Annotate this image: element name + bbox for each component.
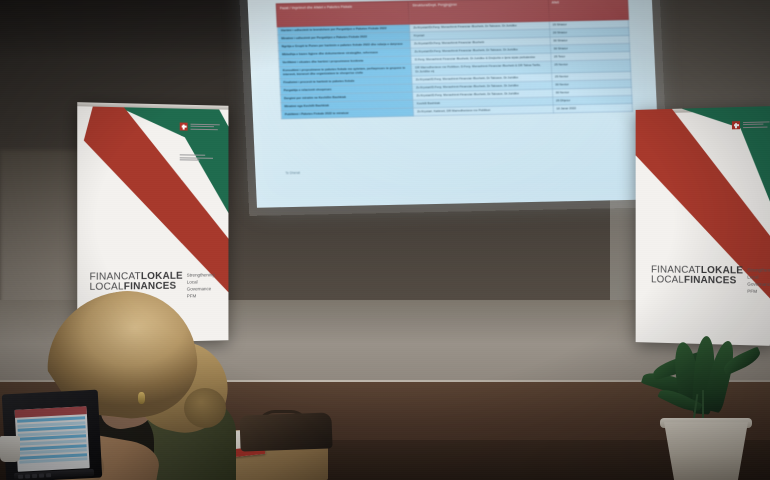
swiss-logo-lines <box>191 123 220 130</box>
banner-right-subtitle: Strengthening Local Governance PFM <box>747 266 770 295</box>
r-subtitle-line-4: PFM <box>747 288 770 295</box>
plant-pot <box>664 422 748 480</box>
swiss-caption-lines <box>180 154 213 161</box>
banner-right-finances: FINANCES <box>684 275 736 287</box>
subtitle-line-3: Governance <box>187 286 215 293</box>
cell-deadline: 10 Janar 2022 <box>553 104 633 114</box>
banner-right-local: LOCAL <box>651 275 684 286</box>
swiss-confederation-logo <box>180 123 220 132</box>
banner-left-title: FINANCATLOKALE LOCALFINANCES <box>90 272 183 294</box>
fiscal-package-table: Fazat / Veprimet dhe Afatet e Paketes Fi… <box>276 0 633 120</box>
cup <box>0 436 20 462</box>
column-header-deadline: Afati <box>548 0 629 21</box>
conference-room-scene: Paketa Fiskale Fazat / Veprimet dhe Afat… <box>0 0 770 480</box>
potted-plant <box>636 336 768 480</box>
swiss-cross-icon <box>180 123 188 131</box>
r-subtitle-line-3: Governance <box>747 281 770 288</box>
woman-hair-bun <box>184 388 226 428</box>
slide-content: Paketa Fiskale Fazat / Veprimet dhe Afat… <box>262 0 650 171</box>
cell-task: Publikimi i Paketes Fiskale 2022 te mira… <box>281 108 414 119</box>
swiss-confederation-logo-right <box>732 120 770 129</box>
swiss-logo-lines-right <box>743 120 769 127</box>
handbag <box>239 412 332 451</box>
banner-left-local: LOCAL <box>90 282 124 294</box>
woman-earring <box>138 392 145 404</box>
rollup-banner-right: FINANCATLOKALE LOCALFINANCES Strengtheni… <box>636 106 770 346</box>
laptop[interactable] <box>2 390 102 480</box>
laptop-screen-table-rows <box>17 416 87 465</box>
column-header-task: Fazat / Veprimet dhe Afatet e Paketes Fi… <box>276 1 410 27</box>
banner-right-title: FINANCATLOKALE LOCALFINANCES <box>651 266 743 287</box>
slide-footer-note: Te Dhenat <box>285 171 300 175</box>
cell-owner: Zv.Kryetari, Kabineti, DR Marredhenieve … <box>414 105 553 116</box>
subtitle-line-1: Strengthening <box>187 272 215 279</box>
swiss-cross-icon-right <box>732 121 740 129</box>
projection-screen: Paketa Fiskale Fazat / Veprimet dhe Afat… <box>246 0 661 208</box>
column-header-owner: Struktura/Dept. Pergjegjese <box>409 0 549 24</box>
banner-right-text: FINANCATLOKALE LOCALFINANCES Strengtheni… <box>651 266 770 296</box>
laptop-screen <box>15 406 90 472</box>
